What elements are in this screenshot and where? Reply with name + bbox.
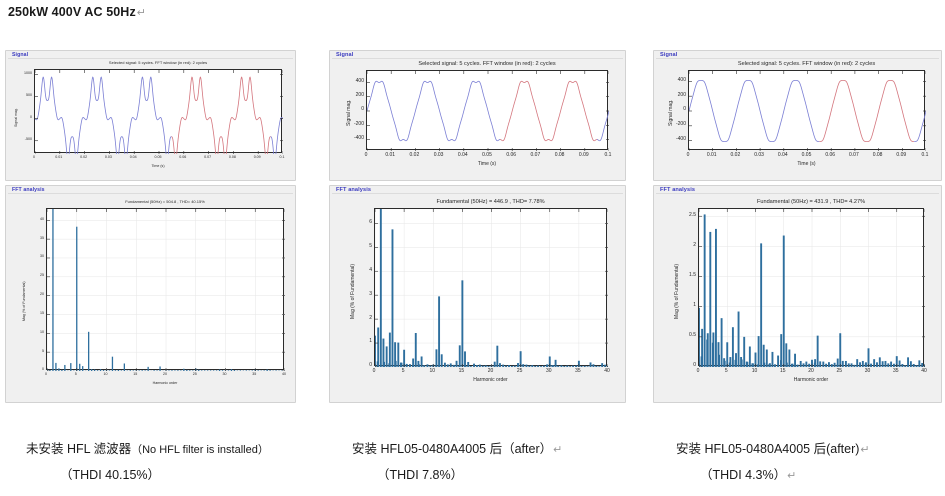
fft-panel-label-0: FFT analysis — [10, 187, 47, 193]
signal-xtick-0-8: 0.08 — [223, 155, 241, 159]
caption-1-pilcrow: ↵ — [552, 444, 562, 456]
fft-ytick-0-3: 15 — [22, 311, 44, 315]
fft-xtick-0-2: 10 — [97, 372, 115, 376]
fft-xtick-1-3: 15 — [452, 368, 470, 374]
fft-ytick-1-5: 5 — [350, 243, 372, 249]
fft-axes-0 — [46, 208, 284, 370]
fft-ytick-0-0: 0 — [22, 367, 44, 371]
page-title-text: 250kW 400V AC 50Hz — [8, 5, 136, 19]
signal-ytick-1-3: -200 — [346, 121, 364, 127]
panel-frame-line — [332, 58, 623, 59]
signal-xtick-2-5: 0.05 — [798, 152, 816, 158]
fft-title-1: Fundamental (50Hz) = 446.9 , THD= 7.78% — [374, 199, 607, 205]
signal-ytick-1-1: 200 — [346, 92, 364, 98]
signal-title-0: Selected signal: 5 cycles. FFT window (i… — [34, 60, 282, 65]
fft-xtick-1-4: 20 — [482, 368, 500, 374]
fft-ytick-0-7: 35 — [22, 236, 44, 240]
fft-xtick-2-8: 40 — [915, 368, 933, 374]
signal-xlabel-2: Time (s) — [688, 161, 925, 167]
signal-xtick-2-6: 0.06 — [821, 152, 839, 158]
fft-xtick-1-7: 35 — [569, 368, 587, 374]
signal-panel-label-1: Signal — [334, 52, 355, 58]
signal-xtick-1-7: 0.07 — [526, 152, 544, 158]
fft-panel-0: FFT analysis Fundamental (50Hz) = 504.8 … — [5, 185, 296, 403]
fft-ytick-0-4: 20 — [22, 292, 44, 296]
fft-xtick-0-7: 35 — [245, 372, 263, 376]
fft-xtick-2-7: 35 — [887, 368, 905, 374]
signal-xtick-2-7: 0.07 — [845, 152, 863, 158]
panel-frame-line — [656, 193, 939, 194]
result-column-0: Signal Selected signal: 5 cycles. FFT wi… — [5, 50, 296, 403]
caption-1-zh: 安装 HFL05-0480A4005 后 — [352, 442, 502, 456]
signal-ytick-0-2: 0 — [14, 115, 32, 119]
fft-xlabel-1: Harmonic order — [374, 377, 607, 383]
signal-xtick-0-3: 0.03 — [99, 155, 117, 159]
caption-0-zh: 未安装 HFL 滤波器 — [26, 442, 131, 456]
fft-ytick-2-2: 1 — [674, 302, 696, 308]
fft-ytick-0-6: 30 — [22, 254, 44, 258]
fft-xtick-0-3: 15 — [126, 372, 144, 376]
signal-panel-label-2: Signal — [658, 52, 679, 58]
fft-xtick-1-6: 30 — [540, 368, 558, 374]
panel-frame-line — [8, 58, 293, 59]
fft-ytick-2-5: 2.5 — [674, 212, 696, 218]
fft-ylabel-0: Mag (% of Fundamental) — [22, 281, 26, 321]
signal-xtick-1-8: 0.08 — [551, 152, 569, 158]
fft-ytick-2-1: 0.5 — [674, 332, 696, 338]
signal-xtick-0-10: 0.1 — [273, 155, 291, 159]
signal-xtick-1-0: 0 — [357, 152, 375, 158]
caption-1-line2: （THDI 7.8%） — [377, 464, 463, 483]
fft-ytick-0-1: 5 — [22, 349, 44, 353]
caption-2-zh: 安装 HFL05-0480A4005 后(after) — [676, 442, 859, 456]
signal-xtick-1-5: 0.05 — [478, 152, 496, 158]
fft-panel-label-2: FFT analysis — [658, 187, 697, 193]
caption-2-line1: 安装 HFL05-0480A4005 后(after)↵ — [676, 438, 870, 457]
signal-xtick-2-3: 0.03 — [750, 152, 768, 158]
signal-ytick-1-2: 0 — [346, 106, 364, 112]
caption-0-thdi: （THDI 40.15%） — [60, 468, 160, 482]
signal-ytick-0-3: -500 — [14, 137, 32, 141]
signal-xtick-0-5: 0.05 — [149, 155, 167, 159]
signal-xtick-0-0: 0 — [25, 155, 43, 159]
signal-xtick-1-6: 0.06 — [502, 152, 520, 158]
fft-title-0: Fundamental (50Hz) = 504.8 , THD= 40.15% — [46, 199, 284, 204]
signal-xtick-2-0: 0 — [679, 152, 697, 158]
fft-xtick-0-6: 30 — [216, 372, 234, 376]
fft-xtick-2-2: 10 — [746, 368, 764, 374]
fft-ytick-2-4: 2 — [674, 242, 696, 248]
signal-xtick-0-7: 0.07 — [199, 155, 217, 159]
fft-ytick-1-4: 4 — [350, 267, 372, 273]
fft-ytick-1-3: 3 — [350, 291, 372, 297]
signal-xtick-1-1: 0.01 — [381, 152, 399, 158]
signal-panel-2: Signal Selected signal: 5 cycles. FFT wi… — [653, 50, 942, 181]
result-column-2: Signal Selected signal: 5 cycles. FFT wi… — [653, 50, 942, 403]
fft-xtick-2-3: 15 — [774, 368, 792, 374]
signal-panel-1: Signal Selected signal: 5 cycles. FFT wi… — [329, 50, 626, 181]
fft-ytick-1-6: 6 — [350, 219, 372, 225]
signal-title-1: Selected signal: 5 cycles. FFT window (i… — [366, 61, 608, 67]
signal-ytick-1-0: 400 — [346, 78, 364, 84]
caption-2-thdi: （THDI 4.3%） — [700, 468, 786, 482]
fft-xtick-1-8: 40 — [598, 368, 616, 374]
signal-panel-label-0: Signal — [10, 52, 30, 58]
panel-frame-line — [332, 193, 623, 194]
signal-xtick-2-10: 0.1 — [916, 152, 934, 158]
signal-xtick-0-2: 0.02 — [75, 155, 93, 159]
caption-0-line2: （THDI 40.15%） — [60, 464, 160, 483]
signal-ytick-2-4: -400 — [668, 136, 686, 142]
fft-ytick-1-2: 2 — [350, 315, 372, 321]
fft-xtick-1-2: 10 — [423, 368, 441, 374]
signal-xtick-2-8: 0.08 — [869, 152, 887, 158]
fft-xtick-2-6: 30 — [859, 368, 877, 374]
caption-0-line1: 未安装 HFL 滤波器（No HFL filter is installed） — [26, 438, 269, 457]
signal-xtick-1-3: 0.03 — [430, 152, 448, 158]
signal-xtick-0-6: 0.06 — [174, 155, 192, 159]
signal-xtick-2-4: 0.04 — [774, 152, 792, 158]
signal-xtick-2-9: 0.09 — [892, 152, 910, 158]
signal-xtick-1-4: 0.04 — [454, 152, 472, 158]
fft-panel-label-1: FFT analysis — [334, 187, 373, 193]
caption-2-pilcrow-2: ↵ — [786, 470, 796, 482]
signal-xtick-1-2: 0.02 — [405, 152, 423, 158]
signal-xtick-0-9: 0.09 — [248, 155, 266, 159]
fft-xtick-1-0: 0 — [365, 368, 383, 374]
page-title: 250kW 400V AC 50Hz↵ — [8, 5, 146, 19]
caption-1-thdi: （THDI 7.8%） — [377, 468, 463, 482]
signal-axes-2 — [688, 70, 925, 150]
fft-panel-1: FFT analysis Fundamental (50Hz) = 446.9 … — [329, 185, 626, 403]
fft-xtick-2-4: 20 — [802, 368, 820, 374]
fft-xtick-0-1: 5 — [67, 372, 85, 376]
signal-xlabel-0: Time (s) — [34, 164, 282, 168]
fft-xtick-2-0: 0 — [689, 368, 707, 374]
fft-xlabel-2: Harmonic order — [698, 377, 924, 383]
signal-xtick-2-1: 0.01 — [703, 152, 721, 158]
fft-xtick-2-5: 25 — [830, 368, 848, 374]
fft-panel-2: FFT analysis Fundamental (50Hz) = 431.9 … — [653, 185, 942, 403]
fft-xtick-2-1: 5 — [717, 368, 735, 374]
caption-1-en: （after） — [502, 442, 552, 456]
fft-ytick-0-5: 25 — [22, 273, 44, 277]
signal-xtick-0-4: 0.04 — [124, 155, 142, 159]
result-column-1: Signal Selected signal: 5 cycles. FFT wi… — [329, 50, 626, 403]
signal-xtick-0-1: 0.01 — [50, 155, 68, 159]
fft-xtick-0-4: 20 — [156, 372, 174, 376]
caption-2-pilcrow: ↵ — [859, 444, 869, 456]
fft-ytick-0-8: 40 — [22, 217, 44, 221]
signal-ytick-2-1: 200 — [668, 92, 686, 98]
fft-ytick-1-1: 1 — [350, 338, 372, 344]
fft-axes-2 — [698, 208, 924, 366]
fft-xtick-0-5: 25 — [186, 372, 204, 376]
signal-panel-0: Signal Selected signal: 5 cycles. FFT wi… — [5, 50, 296, 181]
signal-ytick-2-0: 400 — [668, 77, 686, 83]
caption-0-en: （No HFL filter is installed） — [131, 444, 269, 456]
signal-xlabel-1: Time (s) — [366, 161, 608, 167]
panel-frame-line — [8, 193, 293, 194]
signal-xtick-1-10: 0.1 — [599, 152, 617, 158]
fft-xtick-0-8: 40 — [275, 372, 293, 376]
signal-xtick-2-2: 0.02 — [726, 152, 744, 158]
caption-2-line2: （THDI 4.3%）↵ — [700, 464, 796, 483]
fft-title-2: Fundamental (50Hz) = 431.9 , THD= 4.27% — [698, 199, 924, 205]
fft-xtick-0-0: 0 — [37, 372, 55, 376]
page-root: 250kW 400V AC 50Hz↵ Signal Selected sign… — [0, 0, 945, 496]
pilcrow-mark: ↵ — [136, 7, 146, 19]
fft-ytick-2-3: 1.5 — [674, 272, 696, 278]
signal-ytick-2-3: -200 — [668, 121, 686, 127]
fft-xtick-1-5: 25 — [511, 368, 529, 374]
caption-1-line1: 安装 HFL05-0480A4005 后（after）↵ — [352, 438, 562, 457]
fft-ytick-0-2: 10 — [22, 330, 44, 334]
signal-ytick-0-0: 1000 — [14, 71, 32, 75]
signal-ytick-2-2: 0 — [668, 106, 686, 112]
signal-ytick-1-4: -400 — [346, 135, 364, 141]
signal-axes-1 — [366, 70, 608, 150]
fft-axes-1 — [374, 208, 607, 366]
signal-axes-0 — [34, 69, 282, 153]
signal-title-2: Selected signal: 5 cycles. FFT window (i… — [688, 61, 925, 67]
panel-frame-line — [656, 58, 939, 59]
signal-ytick-0-1: 500 — [14, 93, 32, 97]
fft-xlabel-0: Harmonic order — [46, 381, 284, 385]
fft-xtick-1-1: 5 — [394, 368, 412, 374]
signal-xtick-1-9: 0.09 — [575, 152, 593, 158]
